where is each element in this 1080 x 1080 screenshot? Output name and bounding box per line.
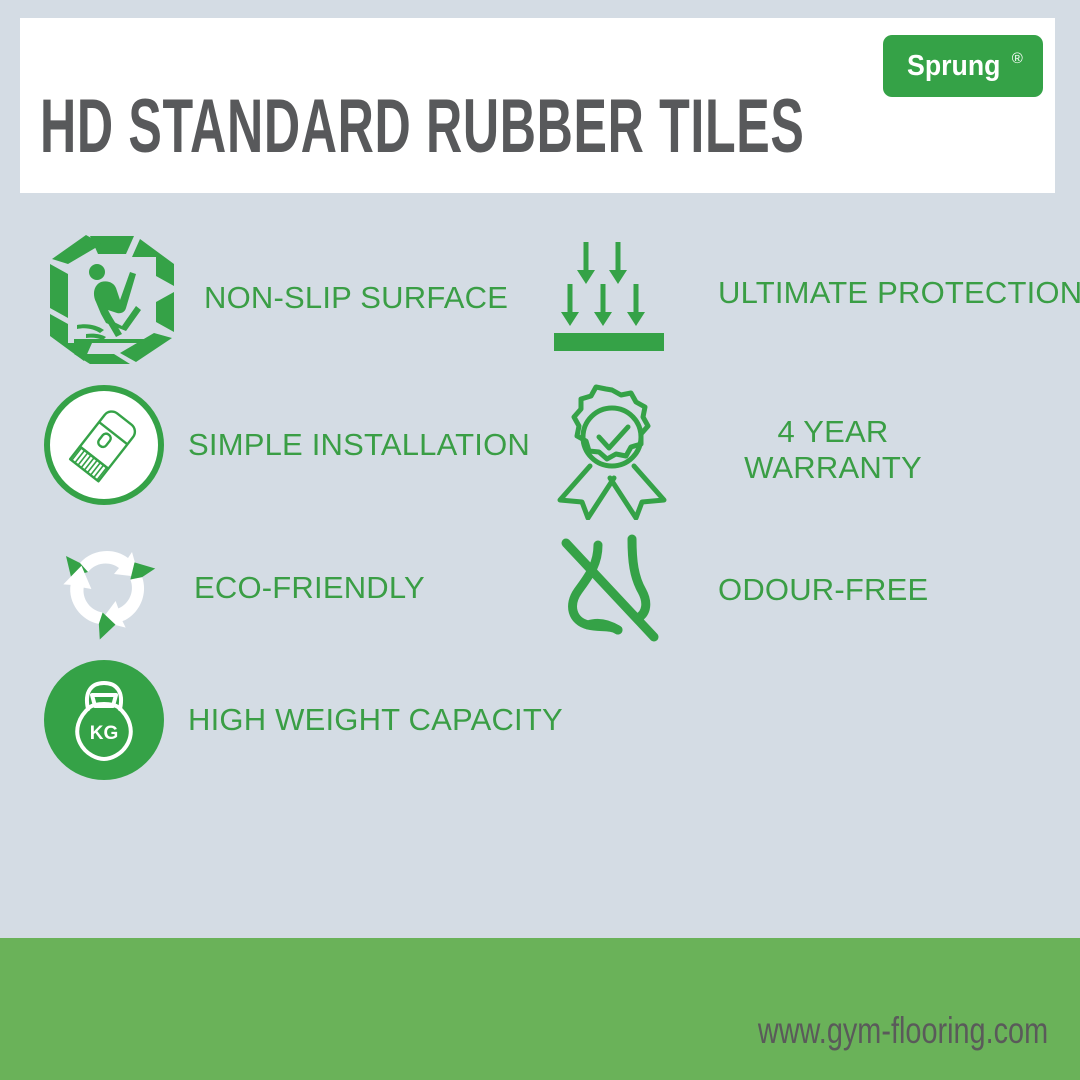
website-url[interactable]: www.gym-flooring.com — [758, 1010, 1048, 1052]
warranty-line-1: 4 YEAR — [778, 414, 889, 449]
kettlebell-circle-icon: KG — [44, 660, 164, 780]
feature-label-simple-installation: SIMPLE INSTALLATION — [188, 428, 530, 462]
feature-high-weight-capacity: KG HIGH WEIGHT CAPACITY — [44, 660, 563, 780]
downward-arrows-mat-icon — [548, 230, 678, 355]
recycle-arrows-icon — [44, 525, 170, 651]
brand-name: Sprung — [907, 50, 1000, 83]
registered-trademark-icon: ® — [1012, 50, 1023, 67]
feature-label-odour-free: ODOUR-FREE — [718, 573, 928, 607]
icon-circle-solid: KG — [44, 660, 164, 780]
feature-ultimate-protection: ULTIMATE PROTECTION — [548, 230, 1080, 355]
feature-label-high-weight-capacity: HIGH WEIGHT CAPACITY — [188, 703, 563, 737]
warranty-line-2: WARRANTY — [744, 450, 922, 485]
header-band: HD STANDARD RUBBER TILES Sprung ® — [20, 18, 1055, 193]
feature-odour-free: ODOUR-FREE — [548, 525, 928, 655]
feature-label-eco-friendly: ECO-FRIENDLY — [194, 571, 425, 605]
feature-label-non-slip-surface: NON-SLIP SURFACE — [204, 281, 508, 315]
feature-warranty: 4 YEAR WARRANTY — [548, 380, 948, 520]
non-slip-hexagon-icon — [44, 230, 180, 366]
kettlebell-kg-text: KG — [90, 723, 119, 744]
feature-simple-installation: SIMPLE INSTALLATION — [44, 385, 530, 505]
warranty-rosette-icon — [548, 380, 678, 520]
feature-label-ultimate-protection: ULTIMATE PROTECTION — [718, 276, 1080, 310]
feature-label-warranty: 4 YEAR WARRANTY — [718, 414, 948, 486]
page-title: HD STANDARD RUBBER TILES — [40, 89, 805, 165]
feature-eco-friendly: ECO-FRIENDLY — [44, 525, 425, 651]
no-odour-nose-icon — [548, 525, 678, 655]
feature-non-slip-surface: NON-SLIP SURFACE — [44, 230, 508, 366]
brand-badge[interactable]: Sprung ® — [883, 35, 1043, 97]
icon-circle-outline — [44, 385, 164, 505]
utility-knife-circle-icon — [44, 385, 164, 505]
footer-bar: www.gym-flooring.com — [0, 938, 1080, 1080]
